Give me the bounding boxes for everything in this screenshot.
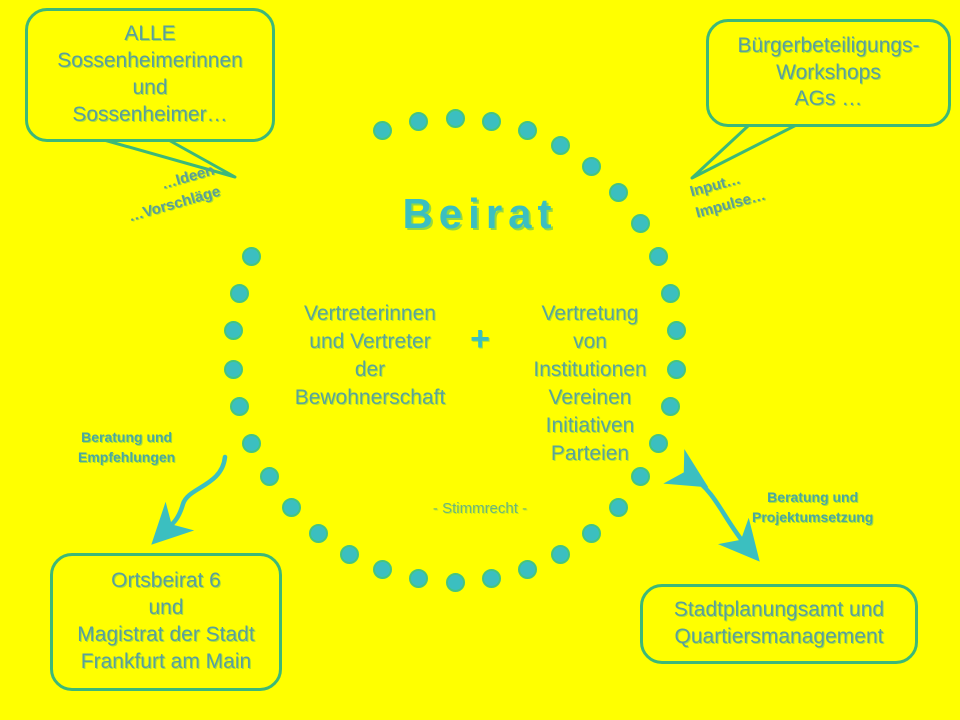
diagram-canvas: ALLE Sossenheimerinnen und Sossenheimer…… — [0, 0, 960, 720]
column-institutions-line-2: von — [504, 328, 676, 356]
ring-dot — [482, 569, 501, 588]
ring-dot — [340, 545, 359, 564]
annotation-beratung-empfehlungen: Beratung und Empfehlungen — [78, 427, 175, 468]
ring-dot — [518, 560, 537, 579]
box-ortsbeirat[interactable]: Ortsbeirat 6 und Magistrat der Stadt Fra… — [50, 553, 282, 691]
ring-dot — [409, 569, 428, 588]
annotation-beratung-projektumsetzung: Beratung und Projektumsetzung — [752, 487, 873, 528]
bubble-workshops-line-2: Workshops — [709, 60, 948, 87]
bubble-citizens-line-4: Sossenheimer… — [28, 102, 272, 129]
bubble-workshops-line-1: Bürgerbeteiligungs- — [709, 33, 948, 60]
bubble-citizens-line-3: und — [28, 75, 272, 102]
box-stadtplanungsamt-line-1: Stadtplanungsamt und — [643, 597, 915, 624]
ring-dot — [409, 112, 428, 131]
ring-dot — [309, 524, 328, 543]
column-institutions-line-1: Vertretung — [504, 300, 676, 328]
column-residents: Vertreterinnen und Vertreter der Bewohne… — [284, 300, 456, 412]
beirat-composition-columns: Vertreterinnen und Vertreter der Bewohne… — [250, 300, 710, 468]
column-institutions-line-5: Initiativen — [504, 412, 676, 440]
box-ortsbeirat-line-2: und — [53, 595, 279, 622]
bubble-workshops-line-3: AGs … — [709, 86, 948, 113]
ring-dot — [482, 112, 501, 131]
stimmrecht-note: - Stimmrecht - — [250, 500, 710, 517]
bubble-citizens-line-2: Sossenheimerinnen — [28, 48, 272, 75]
annotation-beratung-projektumsetzung-line-2: Projektumsetzung — [752, 507, 873, 527]
column-residents-line-3: der — [284, 356, 456, 384]
box-stadtplanungsamt[interactable]: Stadtplanungsamt und Quartiersmanagement — [640, 584, 918, 664]
ring-dot — [373, 121, 392, 140]
ring-dot — [551, 136, 570, 155]
column-institutions-line-3: Institutionen — [504, 356, 676, 384]
column-institutions-line-4: Vereinen — [504, 384, 676, 412]
ring-dot — [582, 157, 601, 176]
ring-dot — [230, 397, 249, 416]
bubble-workshops[interactable]: Bürgerbeteiligungs- Workshops AGs … — [706, 19, 951, 127]
column-residents-line-2: und Vertreter — [284, 328, 456, 356]
bubble-citizens-line-1: ALLE — [28, 21, 272, 48]
column-residents-line-1: Vertreterinnen — [284, 300, 456, 328]
annotation-beratung-empfehlungen-line-2: Empfehlungen — [78, 447, 175, 467]
box-ortsbeirat-line-4: Frankfurt am Main — [53, 649, 279, 676]
ring-dot — [373, 560, 392, 579]
ring-dot — [230, 284, 249, 303]
plus-icon: + — [462, 300, 498, 356]
ring-dot — [518, 121, 537, 140]
ring-dot — [224, 360, 243, 379]
ring-dot — [446, 573, 465, 592]
column-institutions-line-6: Parteien — [504, 440, 676, 468]
box-stadtplanungsamt-line-2: Quartiersmanagement — [643, 624, 915, 651]
annotation-beratung-empfehlungen-line-1: Beratung und — [78, 427, 175, 447]
ring-dot — [551, 545, 570, 564]
ring-dot — [582, 524, 601, 543]
beirat-title: Beirat — [250, 190, 710, 238]
column-residents-line-4: Bewohnerschaft — [284, 384, 456, 412]
column-institutions: Vertretung von Institutionen Vereinen In… — [504, 300, 676, 468]
box-ortsbeirat-line-1: Ortsbeirat 6 — [53, 568, 279, 595]
ring-dot — [224, 321, 243, 340]
beirat-centre-block: Beirat Vertreterinnen und Vertreter der … — [250, 190, 710, 517]
ring-dot — [446, 109, 465, 128]
annotation-beratung-projektumsetzung-line-1: Beratung und — [752, 487, 873, 507]
box-ortsbeirat-line-3: Magistrat der Stadt — [53, 622, 279, 649]
bubble-citizens[interactable]: ALLE Sossenheimerinnen und Sossenheimer… — [25, 8, 275, 142]
